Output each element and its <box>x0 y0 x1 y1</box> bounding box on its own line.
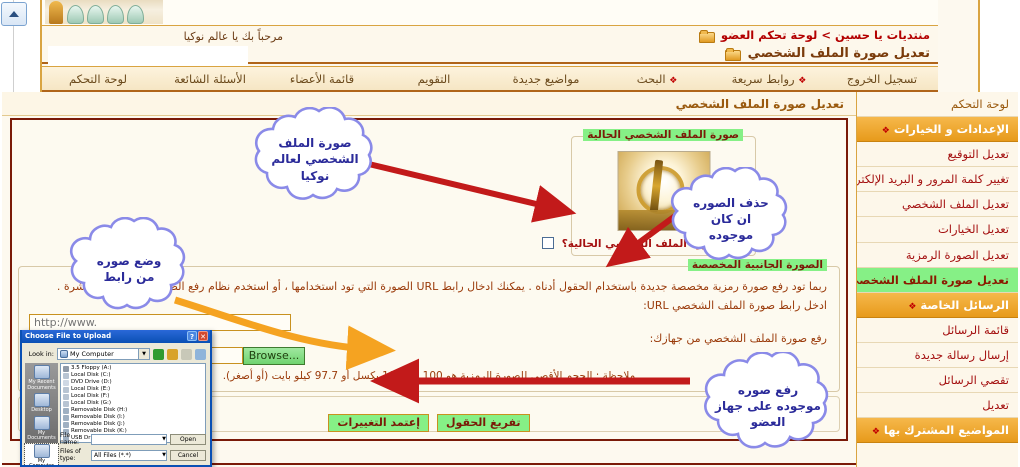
callout-line: من رابط <box>97 269 162 285</box>
breadcrumb-line-1[interactable]: منتديات يا حسين > لوحة تحكم العضو <box>699 27 930 44</box>
file-type-value: All Files (*.*) <box>94 452 131 459</box>
new-folder-icon[interactable] <box>181 349 192 360</box>
choose-file-dialog[interactable]: Choose File to Upload ? ✕ Look in: My Co… <box>20 330 212 467</box>
dome-shape <box>67 5 84 24</box>
drive-icon <box>63 373 69 379</box>
sidebar-header-subscribed-threads[interactable]: المواضيع المشترك بها ❖ <box>857 418 1018 443</box>
up-one-level-icon[interactable] <box>167 349 178 360</box>
drive-icon <box>63 394 69 400</box>
dialog-body: Look in: My Computer ▼ My Recent Documen… <box>22 345 210 465</box>
dialog-footer: File name: ▼ Open Files of type: All Fil… <box>60 432 206 464</box>
sidebar-item-label: تعديل الخيارات <box>938 222 1009 236</box>
nav-item-search[interactable]: ❖ البحث <box>602 72 714 86</box>
place-label: My Recent Documents <box>27 379 56 391</box>
sidebar-item-edit-folders[interactable]: تعديل <box>857 393 1018 418</box>
file-name: Removable Disk (I:) <box>71 414 125 421</box>
callout-text: وضع صوره من رابط <box>83 253 176 285</box>
look-in-label: Look in: <box>26 350 54 358</box>
delete-picture-checkbox[interactable] <box>542 237 554 249</box>
file-name: Local Disk (C:) <box>71 372 111 379</box>
nav-label: الأسئلة الشائعة <box>174 72 246 86</box>
file-type-label: Files of type: <box>60 448 88 462</box>
welcome-text: مرحباً بك يا عالم نوكيا <box>184 30 283 43</box>
chevron-down-icon[interactable]: ▼ <box>138 349 149 359</box>
nav-label: قائمة الأعضاء <box>290 72 354 86</box>
callout-line: صورة الملف <box>271 135 358 151</box>
place-label: My Computer <box>29 458 54 467</box>
place-desktop[interactable]: Desktop <box>25 393 58 414</box>
callout-line: حذف الصوره <box>693 195 769 211</box>
list-item[interactable]: DVD Drive (D:) <box>63 379 203 386</box>
sidebar-item-edit-options[interactable]: تعديل الخيارات <box>857 217 1018 242</box>
mosque-banner-image <box>45 0 163 24</box>
file-name: 3.5 Floppy (A:) <box>71 365 111 372</box>
callout-line: رفع صوره <box>715 382 821 398</box>
drive-icon <box>63 401 69 407</box>
removable-disk-icon <box>63 415 69 421</box>
place-label: Desktop <box>31 407 52 413</box>
folder-icon <box>725 48 740 60</box>
nav-label: روابط سريعة <box>732 72 795 86</box>
sidebar-item-change-password-email[interactable]: تغيير كلمة المرور و البريد الإلكتروني <box>857 167 1018 192</box>
callout-current-avatar: صورة الملف الشخصي لعالم نوكيا <box>243 107 387 212</box>
callout-line: نوكيا <box>271 168 358 184</box>
sidebar-item-label: لوحة التحكم <box>951 97 1009 111</box>
places-bar: My Recent Documents Desktop My Documents… <box>25 363 58 443</box>
breadcrumb-text-1: منتديات يا حسين > لوحة تحكم العضو <box>721 28 930 42</box>
sidebar-item-send-new-message[interactable]: إرسال رسالة جديدة <box>857 343 1018 368</box>
dialog-window-buttons: ? ✕ <box>187 331 208 341</box>
help-icon[interactable]: ? <box>187 331 197 341</box>
nav-label: مواضيع جديدة <box>513 72 580 86</box>
nav-item-new-posts[interactable]: مواضيع جديدة <box>490 72 602 86</box>
back-icon[interactable] <box>153 349 164 360</box>
dialog-title: Choose File to Upload <box>25 332 111 340</box>
file-name-row: File name: ▼ Open <box>60 432 206 446</box>
dialog-titlebar: Choose File to Upload ? ✕ <box>22 330 210 343</box>
dome-shape <box>107 5 124 24</box>
reset-fields-button[interactable]: تفريغ الحقول <box>437 414 530 432</box>
place-label: My Documents <box>27 430 56 442</box>
sidebar-item-control-panel[interactable]: لوحة التحكم <box>857 92 1018 117</box>
list-item[interactable]: Local Disk (E:) <box>63 386 203 393</box>
sidebar-header-settings[interactable]: الإعدادات و الخيارات ❖ <box>857 117 1018 142</box>
chevron-down-icon[interactable]: ▼ <box>162 436 166 442</box>
desktop-icon <box>34 393 50 407</box>
nav-item-calendar[interactable]: التقويم <box>378 72 490 86</box>
sidebar-item-edit-avatar[interactable]: تعديل الصورة الرمزية <box>857 243 1018 268</box>
page-title: تعديل صورة الملف الشخصي <box>2 92 856 116</box>
sidebar-item-label: تعديل الملف الشخصي <box>902 197 1009 211</box>
look-in-value: My Computer <box>70 350 114 358</box>
sidebar-item-label: تعديل صورة الملف الشخصي <box>857 273 1009 287</box>
chevron-down-icon: ❖ <box>798 76 806 86</box>
breadcrumb: منتديات يا حسين > لوحة تحكم العضو تعديل … <box>699 27 930 64</box>
sidebar-item-label: تعديل الصورة الرمزية <box>906 248 1009 262</box>
nav-item-memberlist[interactable]: قائمة الأعضاء <box>266 72 378 86</box>
place-recent-documents[interactable]: My Recent Documents <box>25 365 58 391</box>
callout-url-image: وضع صوره من رابط <box>62 217 196 321</box>
list-item[interactable]: 3.5 Floppy (A:) <box>63 365 203 372</box>
sidebar-item-label: قائمة الرسائل <box>942 323 1009 337</box>
sidebar-item-extra[interactable] <box>857 443 1018 467</box>
sidebar-item-label: الرسائل الخاصة <box>920 298 1009 312</box>
open-button[interactable]: Open <box>170 434 206 445</box>
list-item[interactable]: Local Disk (C:) <box>63 372 203 379</box>
sidebar-item-edit-profile[interactable]: تعديل الملف الشخصي <box>857 192 1018 217</box>
sidebar-item-label: تعديل التوقيع <box>947 147 1009 161</box>
breadcrumb-text-2: تعديل صورة الملف الشخصي <box>748 46 930 61</box>
callout-text: رفع صوره موجوده على جهاز العضو <box>701 382 835 431</box>
callout-line: موجوده <box>693 227 769 243</box>
look-in-row: Look in: My Computer ▼ <box>22 345 210 363</box>
callout-upload-device: رفع صوره موجوده على جهاز العضو <box>694 352 842 460</box>
file-name-input[interactable]: ▼ <box>91 434 167 445</box>
control-panel-sidebar: لوحة التحكم الإعدادات و الخيارات ❖ تعديل… <box>856 92 1018 467</box>
callout-delete-image: حذف الصوره ان كان موجوده <box>663 167 799 271</box>
my-documents-icon <box>34 416 50 430</box>
nav-item-faq[interactable]: الأسئلة الشائعة <box>154 72 266 86</box>
sidebar-item-track-messages[interactable]: تقصي الرسائل <box>857 368 1018 393</box>
current-picture-legend: صورة الملف الشخصي الحالية <box>583 129 743 141</box>
file-list[interactable]: 3.5 Floppy (A:) Local Disk (C:) DVD Driv… <box>60 363 206 443</box>
callout-line: موجوده على جهاز <box>715 398 821 414</box>
chevron-down-icon: ❖ <box>882 126 890 136</box>
file-type-row: Files of type: All Files (*.*) ▼ Cancel <box>60 448 206 462</box>
close-icon[interactable]: ✕ <box>198 331 208 341</box>
file-name: Local Disk (E:) <box>71 386 110 393</box>
views-icon[interactable] <box>195 349 206 360</box>
dome-shape <box>87 5 104 24</box>
cancel-button[interactable]: Cancel <box>170 450 206 461</box>
removable-disk-icon <box>63 422 69 428</box>
submit-changes-button[interactable]: إعتمد التغييرات <box>328 414 429 432</box>
breadcrumb-line-2: تعديل صورة الملف الشخصي <box>699 44 930 64</box>
file-name: Removable Disk (J:) <box>71 421 125 428</box>
my-computer-icon <box>60 350 68 358</box>
sidebar-header-private-messages[interactable]: الرسائل الخاصة ❖ <box>857 293 1018 318</box>
chevron-down-icon: ❖ <box>908 302 916 312</box>
nav-item-quick-links[interactable]: ❖ روابط سريعة <box>714 72 826 86</box>
floppy-icon <box>63 366 69 372</box>
callout-line: وضع صوره <box>97 253 162 269</box>
callout-line: الشخصي لعالم <box>271 151 358 167</box>
file-name: Removable Disk (H:) <box>71 407 127 414</box>
file-name-label: File name: <box>60 432 88 446</box>
cd-drive-icon <box>63 380 69 386</box>
nav-label: لوحة التحكم <box>69 72 127 86</box>
file-name: Local Disk (F:) <box>71 393 109 400</box>
file-name: DVD Drive (D:) <box>71 379 112 386</box>
screenshot-root: مرحباً بك يا عالم نوكيا منتديات يا حسين … <box>0 0 1020 467</box>
list-item[interactable]: Removable Disk (I:) <box>63 414 203 421</box>
nav-item-logout[interactable]: تسجيل الخروج <box>826 72 938 86</box>
folder-icon <box>699 30 714 42</box>
file-type-select[interactable]: All Files (*.*) ▼ <box>91 450 167 461</box>
sidebar-item-label: تعديل <box>982 398 1009 412</box>
callout-line: العضو <box>715 414 821 430</box>
drive-icon <box>63 387 69 393</box>
sidebar-item-label: إرسال رسالة جديدة <box>915 348 1009 362</box>
list-item[interactable]: Removable Disk (H:) <box>63 407 203 414</box>
chevron-down-icon: ❖ <box>872 427 880 437</box>
sidebar-item-label: تقصي الرسائل <box>939 373 1009 387</box>
place-my-computer[interactable]: My Computer <box>25 444 58 467</box>
sidebar-item-label: الإعدادات و الخيارات <box>894 122 1009 136</box>
welcome-breadcrumb-strip: مرحباً بك يا عالم نوكيا منتديات يا حسين … <box>42 26 938 64</box>
chevron-down-icon: ❖ <box>669 76 677 86</box>
list-item[interactable]: Local Disk (F:) <box>63 393 203 400</box>
sidebar-item-message-list[interactable]: قائمة الرسائل <box>857 318 1018 343</box>
sidebar-item-edit-signature[interactable]: تعديل التوقيع <box>857 142 1018 167</box>
my-computer-icon <box>34 444 50 458</box>
callout-line: ان كان <box>693 211 769 227</box>
file-name: Local Disk (G:) <box>71 400 111 407</box>
nav-label: تسجيل الخروج <box>847 72 917 86</box>
nav-item-control-panel[interactable]: لوحة التحكم <box>42 72 154 86</box>
callout-text: صورة الملف الشخصي لعالم نوكيا <box>257 135 372 184</box>
sidebar-item-label: المواضيع المشترك بها <box>884 423 1009 437</box>
dome-shape <box>127 5 144 24</box>
chevron-down-icon[interactable]: ▼ <box>162 452 166 458</box>
browse-button[interactable]: Browse... <box>243 347 305 365</box>
nav-label: البحث <box>637 72 666 86</box>
recent-documents-icon <box>34 365 50 379</box>
nav-label: التقويم <box>418 72 451 86</box>
look-in-combobox[interactable]: My Computer ▼ <box>57 348 150 360</box>
removable-disk-icon <box>63 408 69 414</box>
chevron-up-icon[interactable] <box>1 2 27 26</box>
list-item[interactable]: Local Disk (G:) <box>63 400 203 407</box>
main-navigation: لوحة التحكم الأسئلة الشائعة قائمة الأعضا… <box>42 66 938 92</box>
place-my-documents[interactable]: My Documents <box>25 416 58 442</box>
minaret-shape <box>49 1 63 24</box>
list-item[interactable]: Removable Disk (J:) <box>63 421 203 428</box>
sidebar-item-edit-profile-picture[interactable]: تعديل صورة الملف الشخصي <box>857 268 1018 293</box>
callout-text: حذف الصوره ان كان موجوده <box>679 195 783 244</box>
site-banner <box>42 0 938 26</box>
sidebar-item-label: تغيير كلمة المرور و البريد الإلكتروني <box>857 172 1009 186</box>
